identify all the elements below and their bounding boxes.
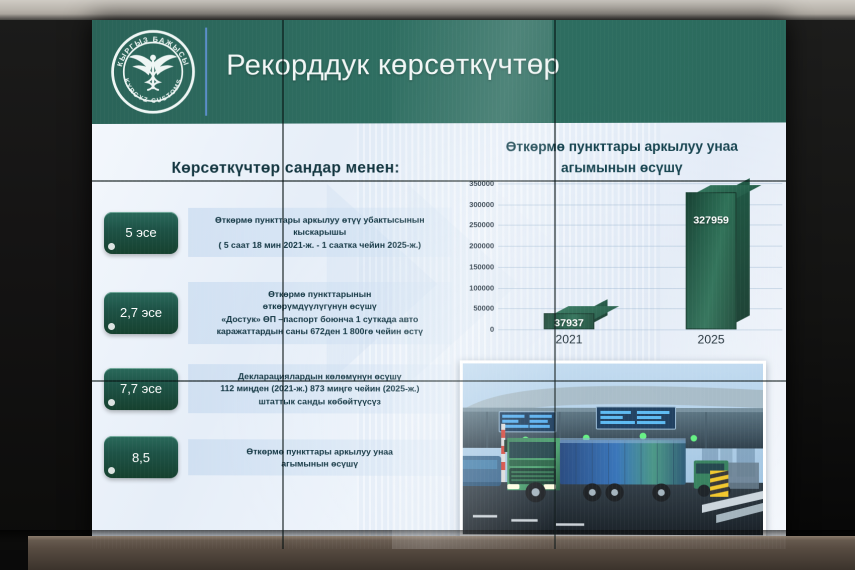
kpi-line: штаттык санды көбөйтүүсүз [194, 395, 446, 408]
kpi-line: Өткөрмө пункттары аркылуу өтүү убактысын… [194, 214, 446, 227]
kpi-line: «Достук» ӨП –паспорт боюнча 1 суткада ав… [194, 313, 446, 326]
left-column-heading: Көрсөткүчтөр сандар менен: [120, 159, 452, 178]
x-axis-tick-2021: 2021 [539, 332, 600, 346]
bar-front-face [686, 192, 737, 329]
kpi-line: Декларациялардын көлөмүнүн өсүшү [194, 370, 446, 383]
kpi-line: кыскарышы [194, 226, 446, 239]
chart-title: Өткөрмө пункттары аркылуу унаа агымынын … [460, 137, 785, 180]
list-item[interactable]: 5 эсе Өткөрмө пункттары аркылуу өтүү уба… [104, 208, 452, 258]
bar-2025: 327959 [686, 192, 737, 329]
header-divider [205, 28, 207, 116]
kpi-description: Өткөрмө пункттарынын өткөрүмдүүлүгүнүн ө… [188, 282, 452, 344]
list-item[interactable]: 2,7 эсе Өткөрмө пункттарынын өткөрүмдүүл… [104, 282, 452, 344]
bar-value-label: 37937 [544, 318, 595, 330]
vehicle-flow-bar-chart: 0500001000001500002000002500003000003500… [446, 183, 786, 355]
y-axis-tick: 100000 [469, 283, 494, 292]
kpi-description: Өткөрмө пункттары аркылуу өтүү убактысын… [188, 208, 452, 258]
bar-side-face [737, 178, 750, 322]
kyrgyz-customs-emblem-icon: КЫРГЫЗ БАЖЫСЫ KYRGYZ CUSTOMS [110, 29, 196, 115]
kpi-line: агымынын өсүшү [194, 457, 446, 470]
y-axis-tick: 250000 [469, 221, 494, 230]
kpi-badge: 2,7 эсе [104, 292, 178, 334]
kpi-line: ( 5 саат 18 мин 2021-ж. - 1 саатка чейин… [194, 239, 446, 252]
y-axis-tick-labels: 0500001000001500002000002500003000003500… [446, 183, 494, 329]
y-axis-tick: 200000 [469, 241, 494, 250]
y-axis-tick: 150000 [469, 262, 494, 271]
bar-value-label: 327959 [686, 215, 737, 227]
page-title: Рекорддук көрсөткүчтөр [226, 48, 560, 82]
chart-title-line: Өткөрмө пункттары аркылуу унаа [460, 137, 785, 159]
slide-header: КЫРГЫЗ БАЖЫСЫ KYRGYZ CUSTOMS Рекорддук к… [92, 20, 786, 124]
kpi-description: Декларациялардын көлөмүнүн өсүшү 112 миң… [188, 364, 452, 414]
kpi-line: Өткөрмө пункттарынын [194, 288, 446, 301]
desk-surface [28, 536, 855, 570]
desk-edge [28, 536, 855, 540]
video-wall[interactable]: КЫРГЫЗ БАЖЫСЫ KYRGYZ CUSTOMS Рекорддук к… [92, 20, 786, 549]
y-axis-tick: 0 [490, 325, 494, 334]
kpi-description: Өткөрмө пункттары аркылуу унаа агымынын … [188, 439, 452, 477]
kpi-line: өткөрүмдүүлүгүнүн өсүшү [194, 300, 446, 313]
y-axis-tick: 350000 [469, 179, 494, 188]
bar-2021: 37937 [544, 313, 595, 329]
screenshot-scene: КЫРГЫЗ БАЖЫСЫ KYRGYZ CUSTOMS Рекорддук к… [0, 0, 855, 570]
border-checkpoint-photo [460, 360, 766, 538]
list-item[interactable]: 7,7 эсе Декларациялардын көлөмүнүн өсүшү… [104, 364, 452, 414]
dark-wall-right [786, 20, 855, 550]
presentation-slide: КЫРГЫЗ БАЖЫСЫ KYRGYZ CUSTOMS Рекорддук к… [92, 20, 786, 549]
y-axis-tick: 50000 [473, 304, 494, 313]
grid-line [498, 329, 782, 330]
chart-plot-area: 3793720213279592025 [498, 183, 782, 329]
chart-title-line: агымынын өсүшү [460, 158, 785, 180]
x-axis-tick-2025: 2025 [681, 332, 742, 346]
list-item[interactable]: 8,5 Өткөрмө пункттары аркылуу унаа агымы… [104, 436, 452, 479]
kpi-badge: 5 эсе [104, 212, 178, 254]
slide-body: Көрсөткүчтөр сандар менен: 5 эсе Өткөрмө… [92, 122, 786, 549]
kpi-line: Өткөрмө пункттары аркылуу унаа [194, 445, 446, 458]
kpi-line: каражаттардын саны 672ден 1 800гө чейин … [194, 325, 446, 338]
kpi-badge: 7,7 эсе [104, 368, 178, 410]
kpi-line: 112 миңден (2021-ж.) 873 миңге чейин (20… [194, 383, 446, 396]
kpi-badge: 8,5 [104, 436, 178, 478]
y-axis-tick: 300000 [469, 200, 494, 209]
